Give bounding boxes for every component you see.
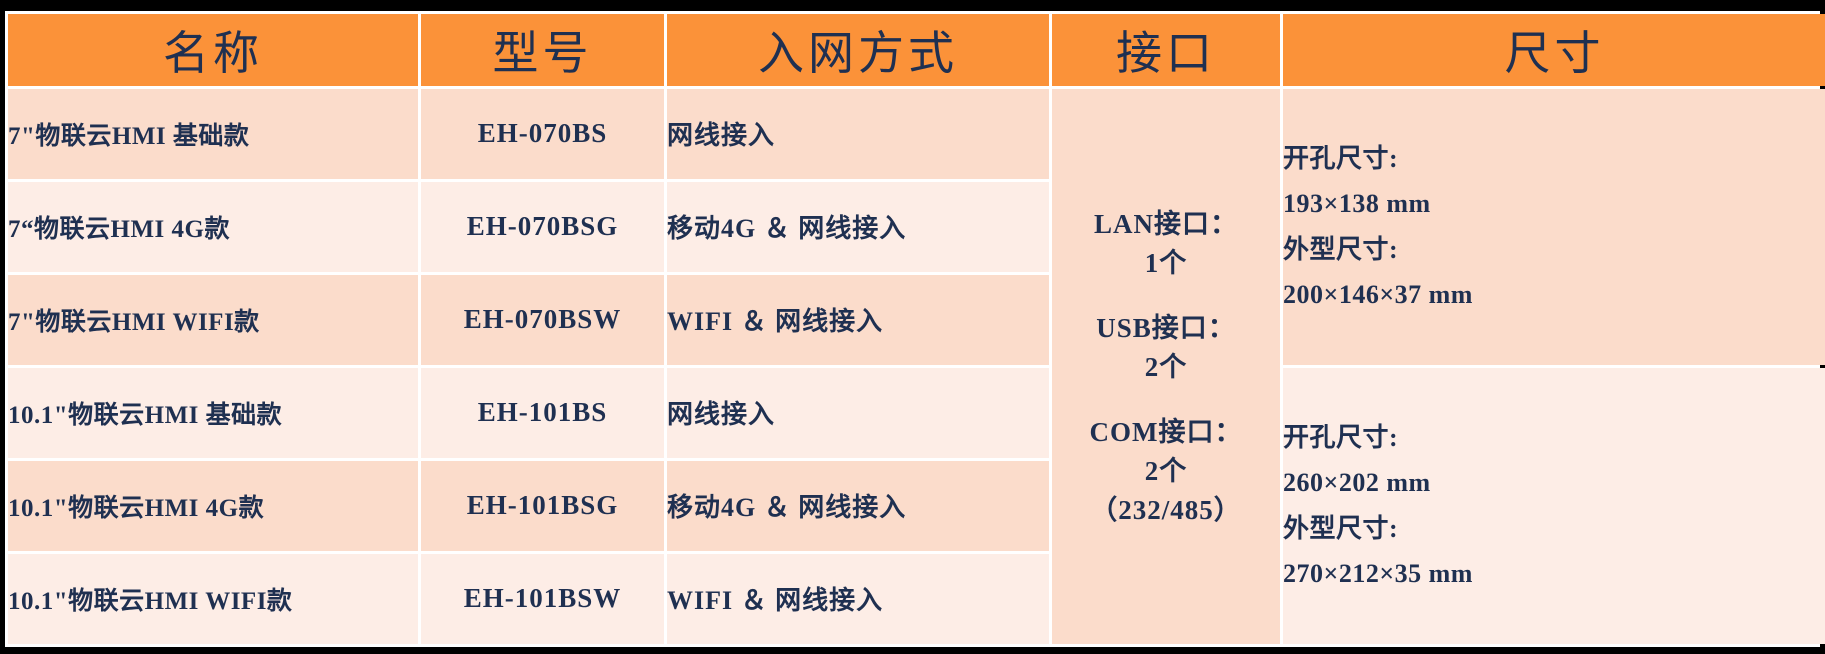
dim-cutout-label-101: 开孔尺寸: [1283, 415, 1825, 461]
cell-access: 网线接入 [667, 89, 1049, 179]
cell-interface-merged: LAN接口： 1个 USB接口： 2个 COM接口： 2个 （232/485） [1052, 89, 1280, 644]
interface-group-com: COM接口： 2个 （232/485） [1052, 413, 1280, 530]
column-header-model: 型号 [421, 14, 664, 86]
cell-name: 10.1"物联云HMI 基础款 [8, 368, 418, 458]
interface-lan-count: 1个 [1052, 244, 1280, 283]
spec-table-page: 名称 型号 入网方式 接口 尺寸 7"物联云HMI 基础款 EH-070BS 网… [0, 0, 1825, 654]
cell-model: EH-070BSG [421, 182, 664, 272]
interface-usb-label: USB接口： [1052, 309, 1280, 348]
cell-access: 网线接入 [667, 368, 1049, 458]
cell-model: EH-070BSW [421, 275, 664, 365]
dim-cutout-value-101: 260×202 mm [1283, 460, 1825, 506]
cell-access: WIFI ＆ 网线接入 [667, 554, 1049, 644]
cell-name: 7“物联云HMI 4G款 [8, 182, 418, 272]
cell-access: 移动4G ＆ 网线接入 [667, 461, 1049, 551]
dim-cutout-label-7: 开孔尺寸: [1283, 136, 1825, 182]
cell-model: EH-070BS [421, 89, 664, 179]
bottom-black-bar [0, 647, 1825, 654]
top-black-bar [0, 0, 1825, 11]
dim-outline-value-101: 270×212×35 mm [1283, 551, 1825, 597]
column-header-interface: 接口 [1052, 14, 1280, 86]
cell-name: 10.1"物联云HMI WIFI款 [8, 554, 418, 644]
cell-name: 7"物联云HMI WIFI款 [8, 275, 418, 365]
column-header-access: 入网方式 [667, 14, 1049, 86]
dim-outline-label-7: 外型尺寸: [1283, 227, 1825, 273]
table-body: 7"物联云HMI 基础款 EH-070BS 网线接入 LAN接口： 1个 USB… [8, 89, 1825, 644]
table-row: 7"物联云HMI 基础款 EH-070BS 网线接入 LAN接口： 1个 USB… [8, 89, 1825, 179]
cell-name: 10.1"物联云HMI 4G款 [8, 461, 418, 551]
dim-cutout-value-7: 193×138 mm [1283, 181, 1825, 227]
interface-com-note: （232/485） [1052, 491, 1280, 530]
cell-access: WIFI ＆ 网线接入 [667, 275, 1049, 365]
cell-dimensions-101inch: 开孔尺寸: 260×202 mm 外型尺寸: 270×212×35 mm [1283, 368, 1825, 644]
interface-group-lan: LAN接口： 1个 [1052, 205, 1280, 283]
table-row: 10.1"物联云HMI 基础款 EH-101BS 网线接入 开孔尺寸: 260×… [8, 368, 1825, 458]
table-container: 名称 型号 入网方式 接口 尺寸 7"物联云HMI 基础款 EH-070BS 网… [5, 11, 1820, 647]
cell-model: EH-101BSG [421, 461, 664, 551]
dim-outline-value-7: 200×146×37 mm [1283, 272, 1825, 318]
table-header: 名称 型号 入网方式 接口 尺寸 [8, 14, 1825, 86]
cell-access: 移动4G ＆ 网线接入 [667, 182, 1049, 272]
dim-outline-label-101: 外型尺寸: [1283, 506, 1825, 552]
interface-usb-count: 2个 [1052, 348, 1280, 387]
column-header-dimensions: 尺寸 [1283, 14, 1825, 86]
interface-group-usb: USB接口： 2个 [1052, 309, 1280, 387]
cell-model: EH-101BS [421, 368, 664, 458]
interface-lan-label: LAN接口： [1052, 205, 1280, 244]
cell-model: EH-101BSW [421, 554, 664, 644]
cell-dimensions-7inch: 开孔尺寸: 193×138 mm 外型尺寸: 200×146×37 mm [1283, 89, 1825, 365]
interface-com-label: COM接口： [1052, 413, 1280, 452]
interface-com-count: 2个 [1052, 452, 1280, 491]
cell-name: 7"物联云HMI 基础款 [8, 89, 418, 179]
product-spec-table: 名称 型号 入网方式 接口 尺寸 7"物联云HMI 基础款 EH-070BS 网… [5, 11, 1825, 647]
column-header-name: 名称 [8, 14, 418, 86]
header-row: 名称 型号 入网方式 接口 尺寸 [8, 14, 1825, 86]
